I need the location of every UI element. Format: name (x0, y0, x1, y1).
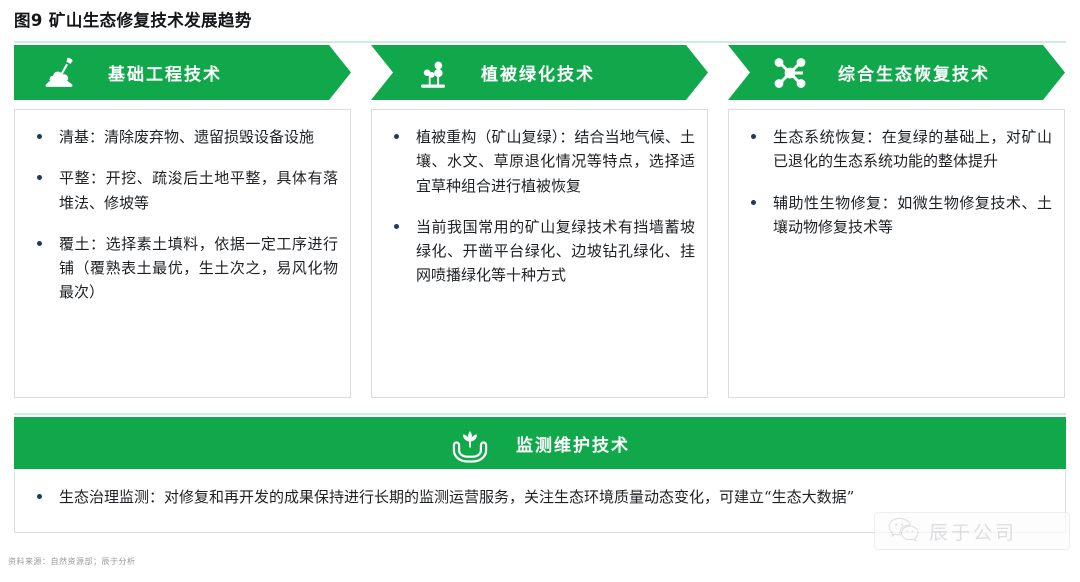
column-3-title: 综合生态恢复技术 (838, 60, 990, 85)
technology-columns: 基础工程技术 清基：清除废弃物、遗留损毁设备设施 平整：开挖、疏浚后土地平整，具… (14, 45, 1066, 405)
column-1-header-banner: 基础工程技术 (14, 45, 351, 100)
list-item: 植被重构（矿山复绿）：结合当地气候、土壤、水文、草原退化情况等特点，选择适宜草种… (380, 125, 695, 198)
list-item: 覆土：选择素土填料，依据一定工序进行铺（覆熟表土最优，生土次之，易风化物最次） (23, 232, 338, 305)
hands-holding-plant-icon (450, 423, 490, 463)
column-2-title: 植被绿化技术 (481, 60, 595, 85)
column-2-header-banner: 植被绿化技术 (371, 45, 708, 100)
column-3-header-banner: 综合生态恢复技术 (728, 45, 1065, 100)
column-3-bullet-list: 生态系统恢复：在复绿的基础上，对矿山已退化的生态系统功能的整体提升 辅助性生物修… (737, 125, 1052, 239)
bottom-divider (14, 413, 1066, 415)
list-item: 生态系统恢复：在复绿的基础上，对矿山已退化的生态系统功能的整体提升 (737, 125, 1052, 174)
list-item: 清基：清除废弃物、遗留损毁设备设施 (23, 125, 338, 149)
watermark-label: 辰于公司 (929, 518, 1017, 545)
bottom-bullet-list: 生态治理监测：对修复和再开发的成果保持进行长期的监测运营服务，关注生态环境质量动… (23, 485, 1051, 509)
column-vegetation-greening: 植被绿化技术 植被重构（矿山复绿）：结合当地气候、土壤、水文、草原退化情况等特点… (371, 45, 708, 405)
list-item: 辅助性生物修复：如微生物修复技术、土壤动物修复技术等 (737, 191, 1052, 240)
title-divider (14, 41, 1066, 43)
column-2-bullet-list: 植被重构（矿山复绿）：结合当地气候、土壤、水文、草原退化情况等特点，选择适宜草种… (380, 125, 695, 288)
source-note: 资料来源：自然资源部；辰于分析 (8, 556, 136, 567)
bottom-header-banner: 监测维护技术 (14, 417, 1066, 469)
column-1-body: 清基：清除废弃物、遗留损毁设备设施 平整：开挖、疏浚后土地平整，具体有落堆法、修… (14, 109, 351, 398)
column-1-title: 基础工程技术 (108, 60, 222, 85)
bottom-title: 监测维护技术 (516, 431, 630, 456)
column-1-bullet-list: 清基：清除废弃物、遗留损毁设备设施 平整：开挖、疏浚后土地平整，具体有落堆法、修… (23, 125, 338, 305)
column-integrated-eco-restoration: 综合生态恢复技术 生态系统恢复：在复绿的基础上，对矿山已退化的生态系统功能的整体… (728, 45, 1065, 405)
shovel-dirt-icon (40, 53, 80, 93)
column-foundation-engineering: 基础工程技术 清基：清除废弃物、遗留损毁设备设施 平整：开挖、疏浚后土地平整，具… (14, 45, 351, 405)
network-nodes-icon (770, 53, 810, 93)
wechat-icon (887, 516, 919, 546)
page-title: 图9 矿山生态修复技术发展趋势 (14, 7, 252, 31)
list-item: 当前我国常用的矿山复绿技术有挡墙蓄坡绿化、开凿平台绿化、边坡钻孔绿化、挂网喷播绿… (380, 215, 695, 288)
list-item: 生态治理监测：对修复和再开发的成果保持进行长期的监测运营服务，关注生态环境质量动… (23, 485, 1051, 509)
sprout-plant-icon (413, 53, 453, 93)
watermark: 辰于公司 (874, 512, 1070, 550)
column-3-body: 生态系统恢复：在复绿的基础上，对矿山已退化的生态系统功能的整体提升 辅助性生物修… (728, 109, 1065, 398)
column-2-body: 植被重构（矿山复绿）：结合当地气候、土壤、水文、草原退化情况等特点，选择适宜草种… (371, 109, 708, 398)
list-item: 平整：开挖、疏浚后土地平整，具体有落堆法、修坡等 (23, 166, 338, 215)
